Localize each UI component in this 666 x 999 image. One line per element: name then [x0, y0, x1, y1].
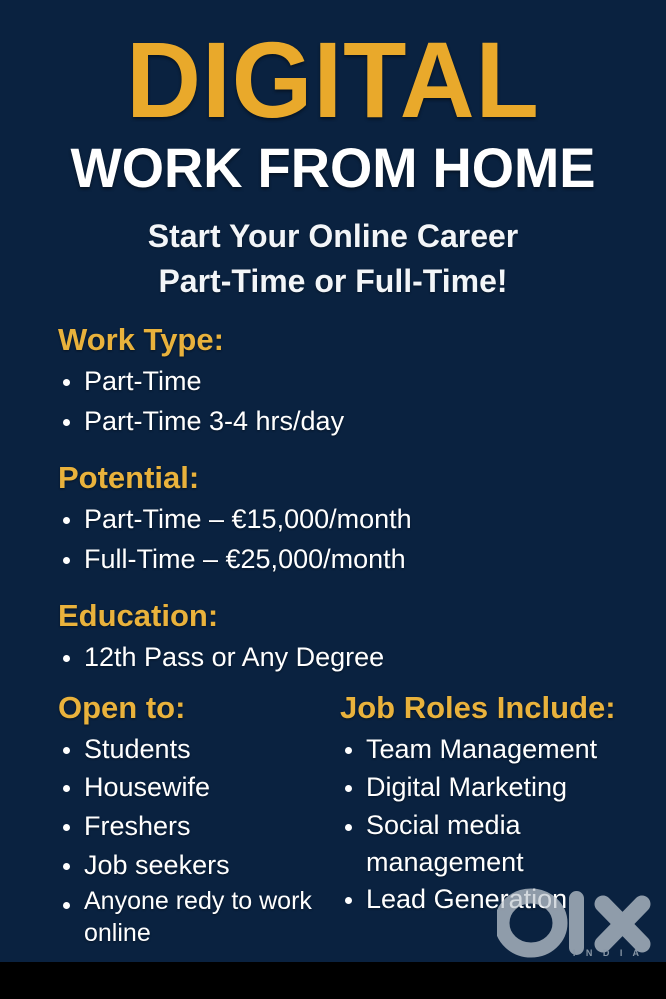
section-heading-education: Education: — [58, 600, 384, 633]
poster: DIGITAL WORK FROM HOME Start Your Online… — [0, 0, 666, 999]
section-potential: Potential: Part-Time – €15,000/month Ful… — [58, 462, 412, 579]
list-item: Housewife — [58, 768, 348, 807]
headline-work-from-home: WORK FROM HOME — [10, 134, 656, 196]
section-heading-work-type: Work Type: — [58, 324, 344, 357]
olx-region-label: I N D I A — [497, 948, 657, 958]
headline-digital: DIGITAL — [13, 0, 652, 134]
bottom-black-bar — [0, 962, 666, 999]
subtitle-line-1: Start Your Online Career — [0, 196, 666, 259]
list-item: Team Management — [340, 730, 660, 769]
list-item: Full-Time – €25,000/month — [58, 540, 412, 580]
list-item: Part-Time 3-4 hrs/day — [58, 402, 344, 442]
section-open-to: Open to: Students Housewife Freshers Job… — [58, 692, 348, 949]
work-type-list: Part-Time Part-Time 3-4 hrs/day — [58, 362, 344, 442]
section-heading-potential: Potential: — [58, 462, 412, 495]
list-item: Job seekers — [58, 846, 348, 885]
list-item: Lead Generation — [340, 880, 660, 919]
education-list: 12th Pass or Any Degree — [58, 638, 384, 678]
list-item: Part-Time — [58, 362, 344, 402]
poster-canvas: DIGITAL WORK FROM HOME Start Your Online… — [0, 0, 666, 962]
section-education: Education: 12th Pass or Any Degree — [58, 600, 384, 678]
section-heading-job-roles: Job Roles Include: — [340, 692, 660, 725]
list-item: Anyone redy to work online — [58, 885, 348, 949]
list-item: Digital Marketing — [340, 768, 660, 807]
list-item: Part-Time – €15,000/month — [58, 500, 412, 540]
list-item: Freshers — [58, 807, 348, 846]
open-to-list: Students Housewife Freshers Job seekers … — [58, 730, 348, 950]
list-item: Students — [58, 730, 348, 769]
section-job-roles: Job Roles Include: Team Management Digit… — [340, 692, 660, 919]
list-item: 12th Pass or Any Degree — [58, 638, 384, 678]
potential-list: Part-Time – €15,000/month Full-Time – €2… — [58, 500, 412, 580]
title-block: DIGITAL WORK FROM HOME Start Your Online… — [0, 0, 666, 305]
list-item: Social media management — [340, 807, 660, 880]
section-work-type: Work Type: Part-Time Part-Time 3-4 hrs/d… — [58, 324, 344, 441]
section-heading-open-to: Open to: — [58, 692, 348, 725]
job-roles-list: Team Management Digital Marketing Social… — [340, 730, 660, 920]
subtitle-line-2: Part-Time or Full-Time! — [0, 259, 666, 304]
